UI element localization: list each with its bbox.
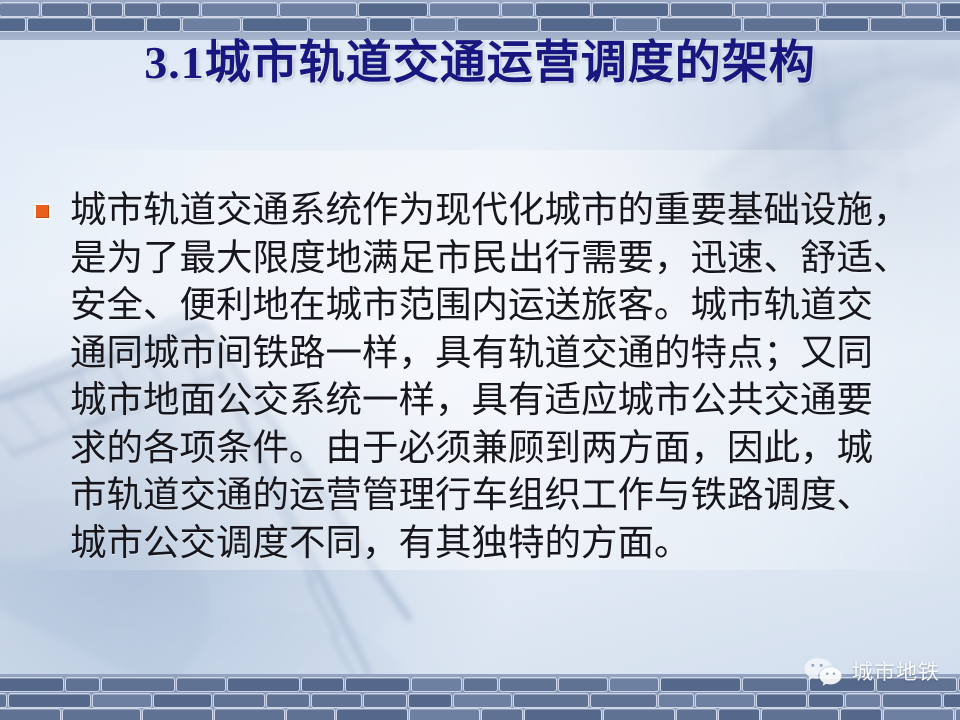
brick-tile (202, 3, 278, 16)
brick-tile (154, 694, 212, 707)
brick-tile (809, 694, 843, 707)
brick-tile (370, 18, 411, 31)
body-line: 是为了最大限度地满足市民出行需要，迅速、舒适、 (70, 234, 926, 282)
brick-tile (502, 3, 533, 16)
brick-tile (287, 709, 334, 720)
body-content-block: 城市轨道交通系统作为现代化城市的重要基础设施，是为了最大限度地满足市民出行需要，… (36, 186, 926, 566)
brick-tile (337, 709, 406, 720)
brick-tile (905, 3, 936, 16)
brick-tile (66, 678, 99, 691)
brick-tile (841, 709, 880, 720)
brick-tile (280, 3, 356, 16)
brick-tile (102, 678, 173, 691)
brick-tile (871, 18, 943, 31)
brick-tile (414, 18, 455, 31)
brick-tile (819, 18, 868, 31)
brick-tile (514, 694, 587, 707)
brick-tile (364, 694, 406, 707)
brick-tile (884, 709, 953, 720)
brick-tile (883, 694, 941, 707)
brick-tile (604, 709, 673, 720)
brick-tile (0, 694, 6, 707)
brick-tile (143, 709, 212, 720)
brick-tile (940, 3, 960, 16)
brick-tile (659, 694, 693, 707)
brick-tile (464, 678, 497, 691)
brick-tile (28, 18, 92, 31)
brick-tile (430, 3, 498, 16)
brick-tile (610, 678, 658, 691)
body-line: 城市轨道交通系统作为现代化城市的重要基础设施， (70, 186, 926, 234)
brick-tile (757, 694, 807, 707)
brick-tile (215, 709, 284, 720)
brick-tile (454, 694, 512, 707)
brick-tile (9, 694, 90, 707)
brick-tile (671, 3, 732, 16)
brick-tile (91, 3, 122, 16)
brick-tile (660, 18, 741, 31)
brick-tile (183, 18, 240, 31)
body-line: 安全、便利地在城市范围内运送旅客。城市轨道交 (70, 281, 926, 329)
brick-tile (409, 694, 451, 707)
brick-tile (559, 678, 607, 691)
slide-title: 3.1城市轨道交通运营调度的架构 (0, 34, 960, 92)
brick-tile (956, 709, 960, 720)
brick-tile (310, 18, 367, 31)
brick-tile (95, 18, 144, 31)
brick-tile (0, 678, 63, 691)
brick-tile (743, 678, 807, 691)
brick-tile (677, 709, 716, 720)
brick-tile (536, 3, 590, 16)
watermark-label: 城市地铁 (852, 661, 940, 684)
presentation-slide: 3.1城市轨道交通运营调度的架构 城市轨道交通系统作为现代化城市的重要基础设施，… (0, 0, 960, 720)
square-bullet-icon (36, 205, 49, 218)
body-paragraph: 城市轨道交通系统作为现代化城市的重要基础设施，是为了最大限度地满足市民出行需要，… (70, 186, 926, 566)
watermark: 城市地铁 (803, 656, 940, 688)
brick-tile (944, 694, 960, 707)
brick-tile (302, 678, 343, 691)
brick-tile (125, 3, 156, 16)
brick-tile (177, 678, 225, 691)
brick-tile (160, 3, 199, 16)
brick-tile (42, 3, 88, 16)
body-line: 城市地面公交系统一样，具有适应城市公共交通要 (70, 376, 926, 424)
brick-tile (0, 3, 39, 16)
body-line: 通同城市间铁路一样，具有轨道交通的特点；又同 (70, 329, 926, 377)
brick-tile (500, 678, 556, 691)
wechat-icon (803, 656, 843, 688)
brick-tile (762, 709, 839, 720)
brick-tile (541, 18, 613, 31)
brick-tile (458, 18, 538, 31)
brick-tile (346, 678, 410, 691)
brick-tile (525, 709, 602, 720)
brick-tile (63, 709, 140, 720)
brick-tile (770, 3, 824, 16)
brick-tile (482, 709, 521, 720)
brick-tile (243, 18, 307, 31)
brick-tile (696, 694, 754, 707)
brick-tile (312, 694, 362, 707)
brick-tile (846, 694, 880, 707)
brick-tile (228, 678, 299, 691)
brick-tile (744, 18, 816, 31)
brick-tile (719, 709, 758, 720)
brick-tile (359, 3, 427, 16)
body-line: 市轨道交通的运营管理行车组织工作与铁路调度、 (70, 471, 926, 519)
brick-tile (616, 18, 657, 31)
body-line: 求的各项条件。由于必须兼顾到两方面，因此，城 (70, 424, 926, 472)
brick-tile (946, 18, 960, 31)
brick-tile (147, 18, 180, 31)
body-line: 城市公交调度不同，有其独特的方面。 (70, 519, 926, 567)
brick-tile (826, 3, 902, 16)
brick-tile (214, 694, 264, 707)
brick-tile (93, 694, 151, 707)
brick-tile (0, 709, 60, 720)
brick-tile (591, 694, 657, 707)
brick-tile (0, 18, 25, 31)
brick-tile (267, 694, 309, 707)
brick-tile (735, 3, 766, 16)
brick-tile (412, 678, 460, 691)
brick-tile (661, 678, 740, 691)
brick-tile (410, 709, 479, 720)
brick-tile (593, 3, 669, 16)
